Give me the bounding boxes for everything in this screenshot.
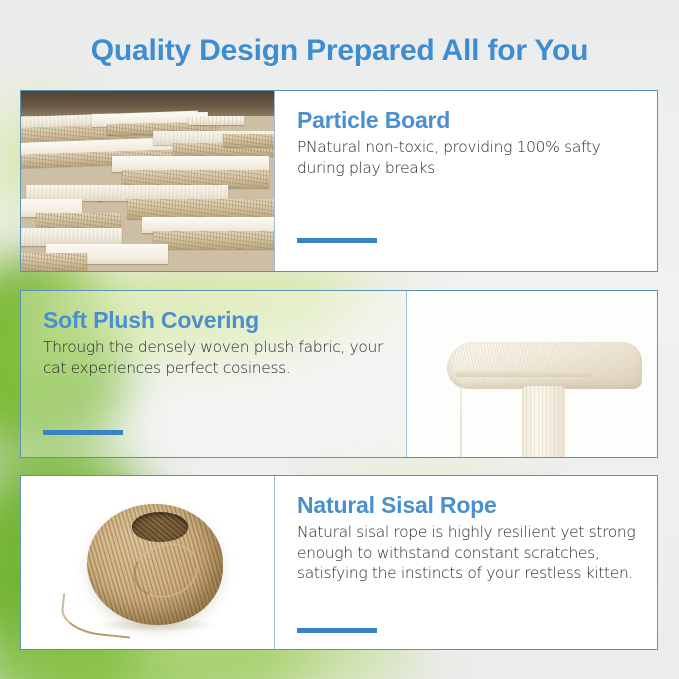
feature-heading: Soft Plush Covering (43, 307, 388, 333)
accent-bar (297, 238, 377, 243)
feature-body: Natural sisal rope is highly resilient y… (297, 522, 639, 583)
page-title: Quality Design Prepared All for You (0, 34, 679, 68)
feature-card-soft-plush-covering: Soft Plush Covering Through the densely … (20, 290, 658, 458)
particle-board-image (21, 91, 274, 271)
feature-heading: Particle Board (297, 107, 639, 133)
sisal-rope-image (21, 476, 274, 649)
soft-plush-text: Soft Plush Covering Through the densely … (21, 291, 406, 457)
plush-perch-image (406, 291, 657, 457)
feature-card-particle-board: Particle Board PNatural non-toxic, provi… (20, 90, 658, 272)
infographic-page: Quality Design Prepared All for You (0, 0, 679, 679)
feature-card-natural-sisal-rope: Natural Sisal Rope Natural sisal rope is… (20, 475, 658, 650)
particle-board-text: Particle Board PNatural non-toxic, provi… (274, 91, 657, 271)
accent-bar (297, 628, 377, 633)
sisal-rope-text: Natural Sisal Rope Natural sisal rope is… (274, 476, 657, 649)
feature-body: PNatural non-toxic, providing 100% safty… (297, 137, 639, 178)
accent-bar (43, 430, 123, 435)
feature-body: Through the densely woven plush fabric, … (43, 337, 388, 378)
feature-heading: Natural Sisal Rope (297, 492, 639, 518)
